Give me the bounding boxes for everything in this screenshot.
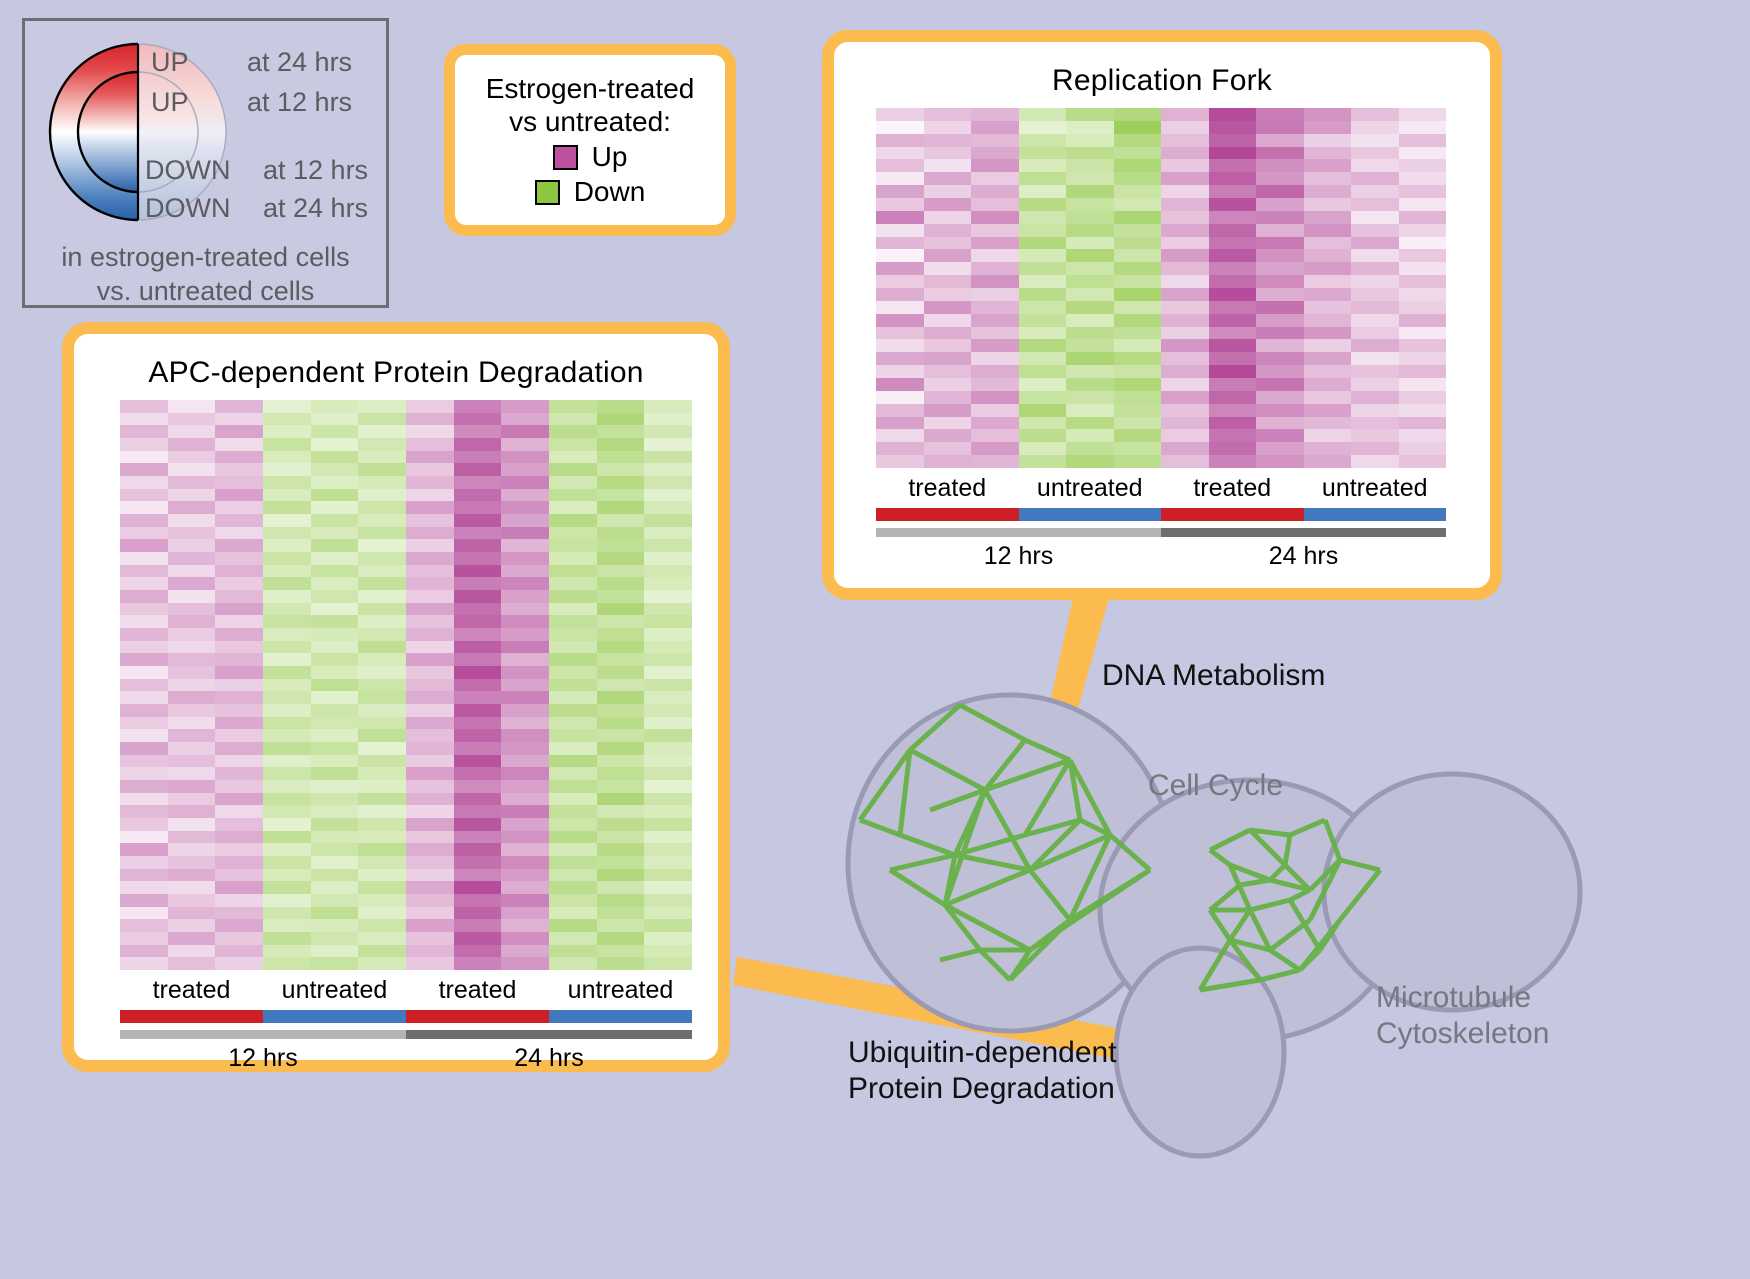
heatmap-cell bbox=[1209, 108, 1257, 121]
heatmap-cell bbox=[1256, 301, 1304, 314]
heatmap-cell bbox=[644, 615, 692, 628]
heatmap-cell bbox=[215, 818, 263, 831]
heatmap-cell bbox=[597, 932, 645, 945]
heatmap-cell bbox=[1304, 121, 1352, 134]
heatmap-cell bbox=[1019, 404, 1067, 417]
time-label-12hrs: 12 hrs bbox=[120, 1044, 406, 1073]
heatmap-cell bbox=[168, 463, 216, 476]
group-label-3: untreated bbox=[549, 976, 692, 1005]
heatmap-cell bbox=[215, 729, 263, 742]
heatmap-cell bbox=[215, 653, 263, 666]
heatmap-cell bbox=[1019, 237, 1067, 250]
heatmap-cell bbox=[454, 603, 502, 616]
heatmap-cell bbox=[263, 717, 311, 730]
heatmap-cell bbox=[1399, 455, 1447, 468]
heatmap-cell bbox=[406, 590, 454, 603]
heatmap-cell bbox=[311, 653, 359, 666]
heatmap-cell bbox=[120, 590, 168, 603]
heatmap-cell bbox=[406, 539, 454, 552]
heatmap-cell bbox=[120, 932, 168, 945]
heatmap-cell bbox=[168, 856, 216, 869]
heatmap-cell bbox=[120, 856, 168, 869]
key-time-down-12: at 12 hrs bbox=[263, 155, 368, 186]
heatmap-cell bbox=[311, 767, 359, 780]
heatmap-cell bbox=[644, 717, 692, 730]
heatmap-cell bbox=[358, 869, 406, 882]
heatmap-cell bbox=[1114, 417, 1162, 430]
heatmap-cell bbox=[549, 717, 597, 730]
heatmap-cell bbox=[263, 805, 311, 818]
heatmap-cell bbox=[1019, 262, 1067, 275]
heatmap-cell bbox=[1351, 198, 1399, 211]
apc-degradation-panel: APC-dependent Protein Degradation treate… bbox=[62, 322, 730, 1072]
heatmap-cell bbox=[924, 134, 972, 147]
heatmap-cell bbox=[971, 378, 1019, 391]
heatmap-cell bbox=[1019, 198, 1067, 211]
heatmap-cell bbox=[549, 413, 597, 426]
heatmap-cell bbox=[924, 404, 972, 417]
heatmap-cell bbox=[358, 843, 406, 856]
heatmap-cell bbox=[924, 224, 972, 237]
group-label-1: untreated bbox=[263, 976, 406, 1005]
heatmap-cell bbox=[597, 843, 645, 856]
heatmap-cell bbox=[358, 628, 406, 641]
heatmap-cell bbox=[263, 666, 311, 679]
heatmap-cell bbox=[549, 881, 597, 894]
heatmap-cell bbox=[1304, 134, 1352, 147]
heatmap-cell bbox=[876, 314, 924, 327]
heatmap-cell bbox=[215, 767, 263, 780]
heatmap-cell bbox=[971, 404, 1019, 417]
heatmap-cell bbox=[406, 957, 454, 970]
cluster-label-cell-cycle: Cell Cycle bbox=[1148, 768, 1283, 804]
heatmap-cell bbox=[263, 463, 311, 476]
heatmap-cell bbox=[358, 945, 406, 958]
heatmap-cell bbox=[1161, 134, 1209, 147]
heatmap-cell bbox=[120, 577, 168, 590]
heatmap-cell bbox=[1019, 327, 1067, 340]
heatmap-cell bbox=[1256, 288, 1304, 301]
legend-label-up: Up bbox=[592, 141, 628, 173]
heatmap-cell bbox=[597, 691, 645, 704]
heatmap-cell bbox=[1351, 327, 1399, 340]
heatmap-cell bbox=[1209, 159, 1257, 172]
heatmap-cell bbox=[215, 919, 263, 932]
heatmap-cell bbox=[358, 413, 406, 426]
heatmap-cell bbox=[971, 172, 1019, 185]
heatmap-cell bbox=[924, 198, 972, 211]
heatmap-cell bbox=[215, 590, 263, 603]
heatmap-cell bbox=[454, 400, 502, 413]
heatmap-cell bbox=[120, 742, 168, 755]
heatmap-cell bbox=[501, 565, 549, 578]
heatmap-cell bbox=[358, 476, 406, 489]
heatmap-cell bbox=[215, 641, 263, 654]
heatmap-cell bbox=[644, 932, 692, 945]
heatmap-cell bbox=[1019, 339, 1067, 352]
heatmap-cell bbox=[549, 755, 597, 768]
heatmap-cell bbox=[215, 869, 263, 882]
heatmap-cell bbox=[549, 957, 597, 970]
heatmap-cell bbox=[1209, 442, 1257, 455]
heatmap-cell bbox=[1399, 339, 1447, 352]
heatmap-cell bbox=[454, 919, 502, 932]
heatmap-cell bbox=[1351, 429, 1399, 442]
heatmap-cell bbox=[924, 249, 972, 262]
heatmap-cell bbox=[311, 679, 359, 692]
heatmap-cell bbox=[501, 869, 549, 882]
heatmap-cell bbox=[876, 159, 924, 172]
heatmap-cell bbox=[1114, 108, 1162, 121]
heatmap-cell bbox=[263, 818, 311, 831]
heatmap-cell bbox=[263, 451, 311, 464]
heatmap-cell bbox=[1161, 301, 1209, 314]
heatmap-cell bbox=[215, 501, 263, 514]
heatmap-cell bbox=[501, 945, 549, 958]
heatmap-cell bbox=[358, 793, 406, 806]
heatmap-cell bbox=[644, 641, 692, 654]
heatmap-cell bbox=[263, 425, 311, 438]
heatmap-cell bbox=[120, 831, 168, 844]
heatmap-cell bbox=[454, 780, 502, 793]
heatmap-cell bbox=[1399, 352, 1447, 365]
heatmap-cell bbox=[311, 590, 359, 603]
heatmap-cell bbox=[406, 717, 454, 730]
heatmap-cell bbox=[168, 818, 216, 831]
heatmap-cell bbox=[971, 237, 1019, 250]
treatment-bar-segment-3 bbox=[549, 1010, 692, 1023]
heatmap-cell bbox=[876, 211, 924, 224]
heatmap-cell bbox=[1399, 185, 1447, 198]
heatmap-cell bbox=[454, 805, 502, 818]
heatmap-cell bbox=[168, 843, 216, 856]
heatmap-cell bbox=[501, 527, 549, 540]
heatmap-cell bbox=[120, 729, 168, 742]
heatmap-cell bbox=[644, 577, 692, 590]
heatmap-cell bbox=[168, 552, 216, 565]
heatmap-cell bbox=[1256, 147, 1304, 160]
heatmap-cell bbox=[501, 881, 549, 894]
treatment-bar-segment-0 bbox=[876, 508, 1019, 521]
heatmap-cell bbox=[263, 831, 311, 844]
heatmap-cell bbox=[311, 691, 359, 704]
heatmap-cell bbox=[215, 400, 263, 413]
heatmap-cell bbox=[406, 831, 454, 844]
heatmap-cell bbox=[263, 780, 311, 793]
heatmap-cell bbox=[454, 413, 502, 426]
heatmap-cell bbox=[501, 628, 549, 641]
heatmap-cell bbox=[1304, 262, 1352, 275]
heatmap-cell bbox=[597, 577, 645, 590]
group-label-3: untreated bbox=[1304, 474, 1447, 503]
heatmap-cell bbox=[1114, 121, 1162, 134]
heatmap-cell bbox=[1304, 339, 1352, 352]
heatmap-cell bbox=[549, 641, 597, 654]
heatmap-cell bbox=[215, 780, 263, 793]
heatmap-cell bbox=[1161, 429, 1209, 442]
heatmap-cell bbox=[358, 425, 406, 438]
heatmap-cell bbox=[311, 565, 359, 578]
heatmap-cell bbox=[168, 590, 216, 603]
heatmap-cell bbox=[644, 565, 692, 578]
heatmap-cell bbox=[120, 603, 168, 616]
heatmap-cell bbox=[971, 198, 1019, 211]
heatmap-cell bbox=[876, 429, 924, 442]
heatmap-cell bbox=[924, 327, 972, 340]
heatmap-cell bbox=[120, 843, 168, 856]
heatmap-cell bbox=[549, 691, 597, 704]
heatmap-cell bbox=[1019, 352, 1067, 365]
heatmap-cell bbox=[971, 288, 1019, 301]
group-label-1: untreated bbox=[1019, 474, 1162, 503]
heatmap-cell bbox=[1304, 429, 1352, 442]
heatmap-cell bbox=[597, 767, 645, 780]
key-caption-line2: vs. untreated cells bbox=[25, 273, 386, 309]
heatmap-cell bbox=[1209, 288, 1257, 301]
heatmap-cell bbox=[1066, 262, 1114, 275]
heatmap-cell bbox=[501, 755, 549, 768]
heatmap-cell bbox=[1066, 404, 1114, 417]
heatmap-cell bbox=[406, 767, 454, 780]
heatmap-cell bbox=[1161, 237, 1209, 250]
heatmap-cell bbox=[549, 615, 597, 628]
network-graph bbox=[780, 620, 1750, 1279]
heatmap-cell bbox=[454, 425, 502, 438]
heatmap-cell bbox=[168, 907, 216, 920]
apc-time-bar bbox=[120, 1030, 692, 1039]
time-bar-segment-24hrs bbox=[406, 1030, 692, 1039]
heatmap-cell bbox=[215, 856, 263, 869]
heatmap-cell bbox=[168, 653, 216, 666]
heatmap-cell bbox=[549, 527, 597, 540]
treatment-bar-segment-1 bbox=[263, 1010, 406, 1023]
heatmap-cell bbox=[215, 907, 263, 920]
heatmap-cell bbox=[644, 400, 692, 413]
group-label-0: treated bbox=[876, 474, 1019, 503]
heatmap-cell bbox=[215, 413, 263, 426]
heatmap-cell bbox=[644, 628, 692, 641]
heatmap-cell bbox=[644, 742, 692, 755]
heatmap-cell bbox=[644, 919, 692, 932]
heatmap-cell bbox=[168, 489, 216, 502]
heatmap-cell bbox=[1351, 262, 1399, 275]
heatmap-cell bbox=[1114, 352, 1162, 365]
heatmap-cell bbox=[358, 704, 406, 717]
heatmap-cell bbox=[597, 425, 645, 438]
heatmap-cell bbox=[311, 666, 359, 679]
heatmap-cell bbox=[1209, 429, 1257, 442]
heatmap-cell bbox=[1209, 365, 1257, 378]
heatmap-cell bbox=[644, 793, 692, 806]
heatmap-cell bbox=[1399, 121, 1447, 134]
treatment-bar-segment-2 bbox=[1161, 508, 1304, 521]
heatmap-cell bbox=[406, 489, 454, 502]
heatmap-cell bbox=[454, 793, 502, 806]
heatmap-cell bbox=[1256, 442, 1304, 455]
heatmap-cell bbox=[971, 365, 1019, 378]
heatmap-cell bbox=[406, 919, 454, 932]
heatmap-cell bbox=[311, 717, 359, 730]
heatmap-cell bbox=[924, 147, 972, 160]
heatmap-cell bbox=[1304, 365, 1352, 378]
heatmap-cell bbox=[311, 501, 359, 514]
heatmap-cell bbox=[120, 767, 168, 780]
heatmap-cell bbox=[454, 818, 502, 831]
heatmap-cell bbox=[644, 704, 692, 717]
heatmap-cell bbox=[454, 628, 502, 641]
heatmap-cell bbox=[358, 742, 406, 755]
heatmap-cell bbox=[644, 957, 692, 970]
heatmap-cell bbox=[215, 577, 263, 590]
heatmap-cell bbox=[263, 539, 311, 552]
heatmap-cell bbox=[971, 134, 1019, 147]
heatmap-cell bbox=[597, 628, 645, 641]
heatmap-cell bbox=[1114, 172, 1162, 185]
heatmap-cell bbox=[1304, 198, 1352, 211]
heatmap-cell bbox=[1351, 404, 1399, 417]
heatmap-cell bbox=[263, 881, 311, 894]
heatmap-cell bbox=[1161, 224, 1209, 237]
heatmap-cell bbox=[1209, 198, 1257, 211]
heatmap-cell bbox=[263, 615, 311, 628]
heatmap-cell bbox=[1351, 442, 1399, 455]
heatmap-cell bbox=[597, 400, 645, 413]
heatmap-cell bbox=[168, 932, 216, 945]
heatmap-cell bbox=[597, 501, 645, 514]
heatmap-cell bbox=[597, 894, 645, 907]
heatmap-cell bbox=[644, 527, 692, 540]
heatmap-cell bbox=[549, 590, 597, 603]
colour-key-box: UP at 24 hrs UP at 12 hrs DOWN at 12 hrs… bbox=[22, 18, 389, 308]
heatmap-cell bbox=[597, 793, 645, 806]
heatmap-cell bbox=[263, 438, 311, 451]
heatmap-cell bbox=[406, 805, 454, 818]
heatmap-cell bbox=[358, 818, 406, 831]
heatmap-cell bbox=[1351, 121, 1399, 134]
heatmap-cell bbox=[549, 894, 597, 907]
heatmap-cell bbox=[971, 314, 1019, 327]
heatmap-cell bbox=[1351, 172, 1399, 185]
heatmap-cell bbox=[1256, 365, 1304, 378]
heatmap-cell bbox=[311, 780, 359, 793]
heatmap-cell bbox=[215, 628, 263, 641]
heatmap-cell bbox=[406, 729, 454, 742]
heatmap-cell bbox=[1304, 417, 1352, 430]
heatmap-cell bbox=[263, 932, 311, 945]
heatmap-cell bbox=[120, 869, 168, 882]
heatmap-cell bbox=[1114, 378, 1162, 391]
heatmap-cell bbox=[1351, 108, 1399, 121]
heatmap-cell bbox=[501, 856, 549, 869]
heatmap-cell bbox=[549, 438, 597, 451]
heatmap-cell bbox=[406, 552, 454, 565]
treatment-bar-segment-2 bbox=[406, 1010, 549, 1023]
heatmap-cell bbox=[1399, 301, 1447, 314]
heatmap-cell bbox=[120, 666, 168, 679]
heatmap-cell bbox=[924, 301, 972, 314]
heatmap-cell bbox=[120, 653, 168, 666]
heatmap-cell bbox=[168, 729, 216, 742]
heatmap-cell bbox=[263, 856, 311, 869]
heatmap-cell bbox=[597, 653, 645, 666]
heatmap-cell bbox=[1256, 172, 1304, 185]
heatmap-cell bbox=[1019, 391, 1067, 404]
heatmap-cell bbox=[1399, 237, 1447, 250]
heatmap-cell bbox=[358, 400, 406, 413]
heatmap-cell bbox=[1256, 275, 1304, 288]
time-label-24hrs: 24 hrs bbox=[406, 1044, 692, 1073]
heatmap-cell bbox=[1019, 211, 1067, 224]
heatmap-cell bbox=[1351, 314, 1399, 327]
heatmap-cell bbox=[311, 425, 359, 438]
heatmap-cell bbox=[644, 603, 692, 616]
heatmap-cell bbox=[406, 856, 454, 869]
heatmap-cell bbox=[120, 615, 168, 628]
heatmap-cell bbox=[1304, 391, 1352, 404]
heatmap-cell bbox=[358, 451, 406, 464]
heatmap-cell bbox=[549, 818, 597, 831]
heatmap-cell bbox=[597, 463, 645, 476]
heatmap-cell bbox=[1209, 237, 1257, 250]
heatmap-cell bbox=[406, 451, 454, 464]
heatmap-cell bbox=[1399, 442, 1447, 455]
heatmap-cell bbox=[1019, 249, 1067, 262]
heatmap-cell bbox=[358, 780, 406, 793]
heatmap-cell bbox=[454, 438, 502, 451]
heatmap-cell bbox=[168, 451, 216, 464]
heatmap-cell bbox=[549, 666, 597, 679]
heatmap-cell bbox=[358, 501, 406, 514]
heatmap-cell bbox=[263, 590, 311, 603]
heatmap-cell bbox=[549, 805, 597, 818]
heatmap-cell bbox=[1304, 275, 1352, 288]
heatmap-cell bbox=[1019, 185, 1067, 198]
heatmap-cell bbox=[1019, 108, 1067, 121]
heatmap-cell bbox=[263, 679, 311, 692]
heatmap-cell bbox=[1304, 314, 1352, 327]
heatmap-cell bbox=[1019, 134, 1067, 147]
heatmap-cell bbox=[263, 641, 311, 654]
heatmap-cell bbox=[1399, 391, 1447, 404]
heatmap-cell bbox=[549, 565, 597, 578]
heatmap-cell bbox=[454, 957, 502, 970]
heatmap-cell bbox=[1019, 301, 1067, 314]
heatmap-cell bbox=[1256, 121, 1304, 134]
heatmap-cell bbox=[406, 881, 454, 894]
heatmap-cell bbox=[1066, 172, 1114, 185]
heatmap-cell bbox=[971, 391, 1019, 404]
heatmap-cell bbox=[501, 603, 549, 616]
heatmap-cell bbox=[644, 856, 692, 869]
heatmap-cell bbox=[120, 400, 168, 413]
heatmap-cell bbox=[311, 881, 359, 894]
heatmap-cell bbox=[454, 831, 502, 844]
heatmap-cell bbox=[924, 429, 972, 442]
heatmap-cell bbox=[406, 641, 454, 654]
heatmap-cell bbox=[168, 691, 216, 704]
heatmap-cell bbox=[215, 666, 263, 679]
heatmap-cell bbox=[311, 577, 359, 590]
heatmap-cell bbox=[1066, 378, 1114, 391]
heatmap-cell bbox=[1114, 314, 1162, 327]
heatmap-cell bbox=[168, 628, 216, 641]
heatmap-cell bbox=[597, 641, 645, 654]
heatmap-cell bbox=[120, 476, 168, 489]
heatmap-cell bbox=[215, 932, 263, 945]
heatmap-cell bbox=[644, 755, 692, 768]
heatmap-cell bbox=[168, 666, 216, 679]
heatmap-cell bbox=[876, 378, 924, 391]
